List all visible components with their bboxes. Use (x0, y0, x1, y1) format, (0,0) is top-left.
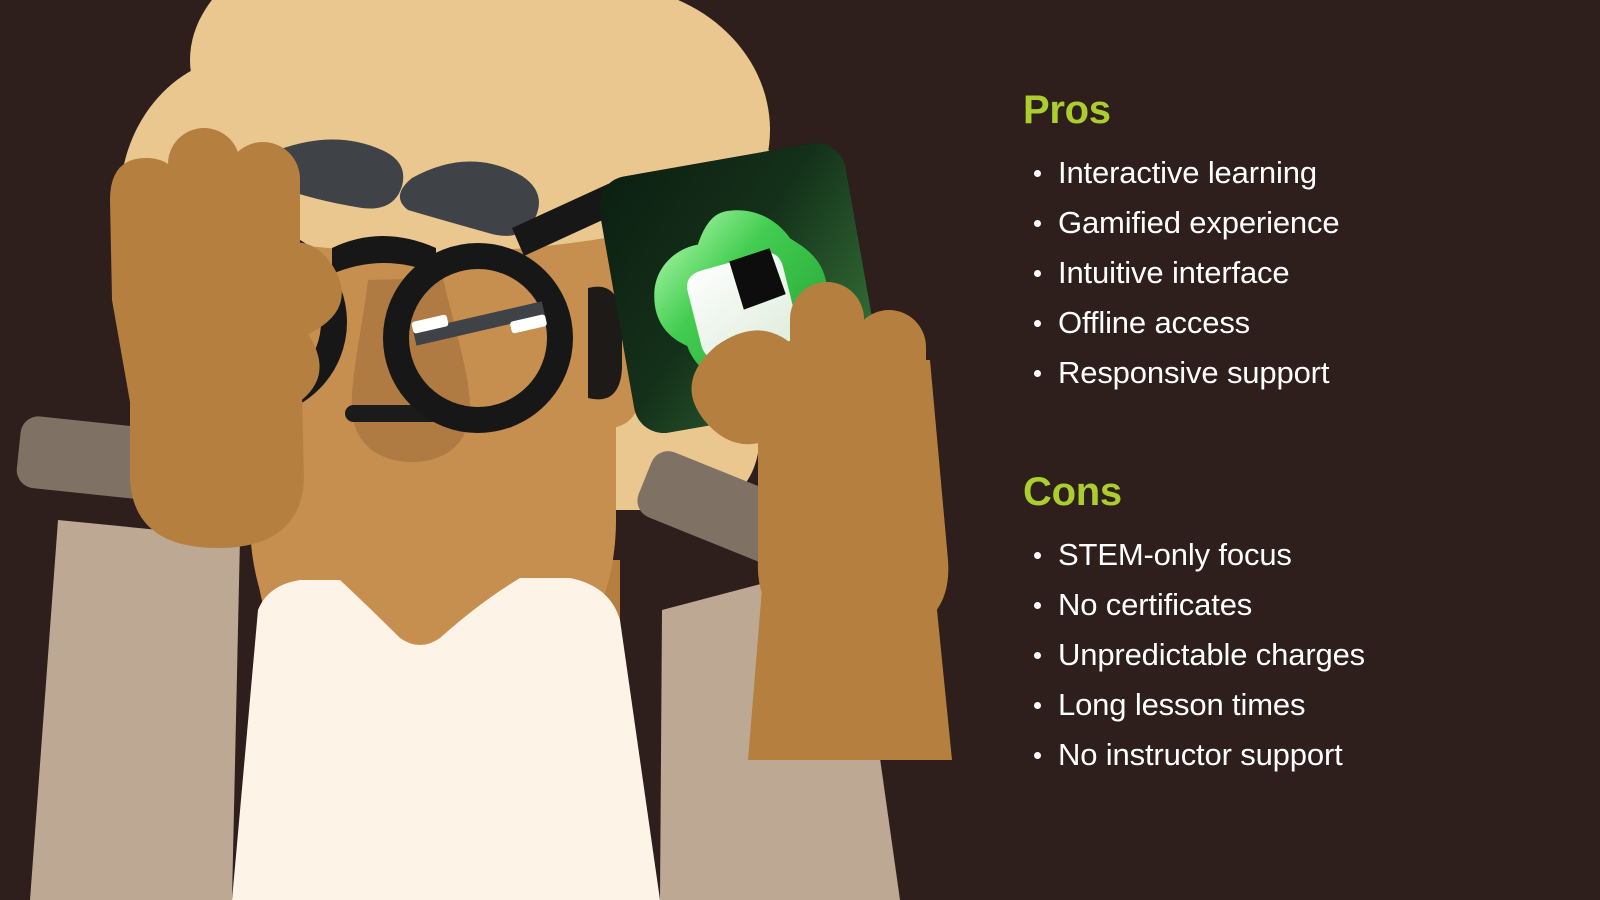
bullet-dot-icon (1034, 702, 1041, 709)
character-illustration (0, 0, 980, 900)
list-item: No instructor support (1020, 730, 1580, 780)
list-item: STEM-only focus (1020, 530, 1580, 580)
list-item: Gamified experience (1020, 198, 1580, 248)
left-sleeve (30, 520, 240, 900)
illustration-panel (0, 0, 980, 900)
list-item-label: Unpredictable charges (1058, 637, 1365, 672)
bullet-dot-icon (1034, 652, 1041, 659)
list-item-label: Long lesson times (1058, 687, 1305, 722)
bullet-dot-icon (1034, 220, 1041, 227)
list-item: No certificates (1020, 580, 1580, 630)
bullet-dot-icon (1034, 602, 1041, 609)
list-item-label: Offline access (1058, 305, 1250, 340)
list-item-label: No certificates (1058, 587, 1252, 622)
pros-cons-panel: Pros Interactive learning Gamified exper… (1020, 0, 1580, 900)
list-item-label: Gamified experience (1058, 205, 1339, 240)
pros-section: Pros Interactive learning Gamified exper… (1020, 86, 1580, 398)
list-item: Unpredictable charges (1020, 630, 1580, 680)
bullet-dot-icon (1034, 370, 1041, 377)
pros-heading: Pros (1020, 86, 1580, 134)
list-item: Long lesson times (1020, 680, 1580, 730)
slide-root: Pros Interactive learning Gamified exper… (0, 0, 1600, 900)
list-item: Intuitive interface (1020, 248, 1580, 298)
bullet-dot-icon (1034, 170, 1041, 177)
list-item: Offline access (1020, 298, 1580, 348)
list-item: Responsive support (1020, 348, 1580, 398)
cons-list: STEM-only focus No certificates Unpredic… (1020, 530, 1580, 780)
list-item-label: Responsive support (1058, 355, 1329, 390)
pros-list: Interactive learning Gamified experience… (1020, 148, 1580, 398)
list-item-label: No instructor support (1058, 737, 1343, 772)
bullet-dot-icon (1034, 270, 1041, 277)
cons-section: Cons STEM-only focus No certificates Unp… (1020, 468, 1580, 780)
cons-heading: Cons (1020, 468, 1580, 516)
bullet-dot-icon (1034, 552, 1041, 559)
list-item: Interactive learning (1020, 148, 1580, 198)
bullet-dot-icon (1034, 752, 1041, 759)
list-item-label: Interactive learning (1058, 155, 1317, 190)
list-item-label: STEM-only focus (1058, 537, 1292, 572)
list-item-label: Intuitive interface (1058, 255, 1290, 290)
bullet-dot-icon (1034, 320, 1041, 327)
